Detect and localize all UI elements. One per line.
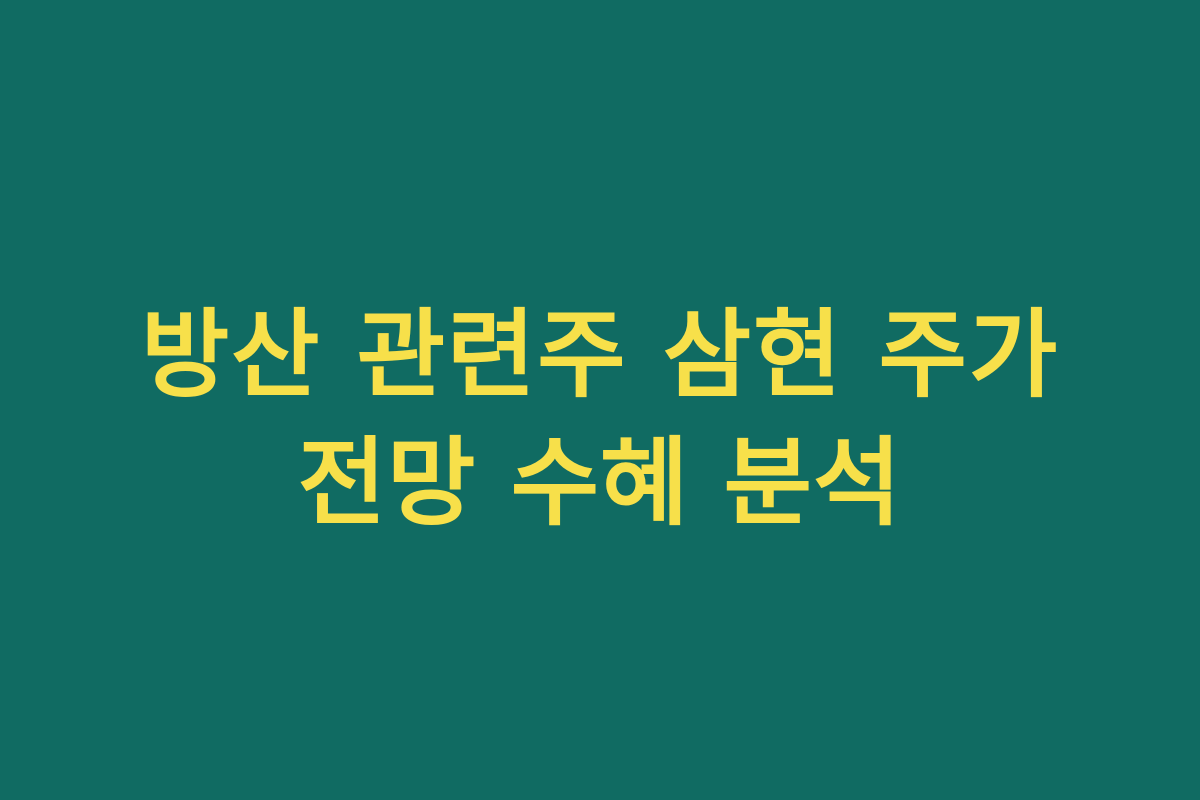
title-block: 방산 관련주 삼현 주가 전망 수혜 분석 xyxy=(0,292,1200,547)
title-card: 방산 관련주 삼현 주가 전망 수혜 분석 xyxy=(0,0,1200,800)
title-line-1: 방산 관련주 삼현 주가 xyxy=(40,292,1160,420)
title-line-2: 전망 수혜 분석 xyxy=(40,420,1160,548)
